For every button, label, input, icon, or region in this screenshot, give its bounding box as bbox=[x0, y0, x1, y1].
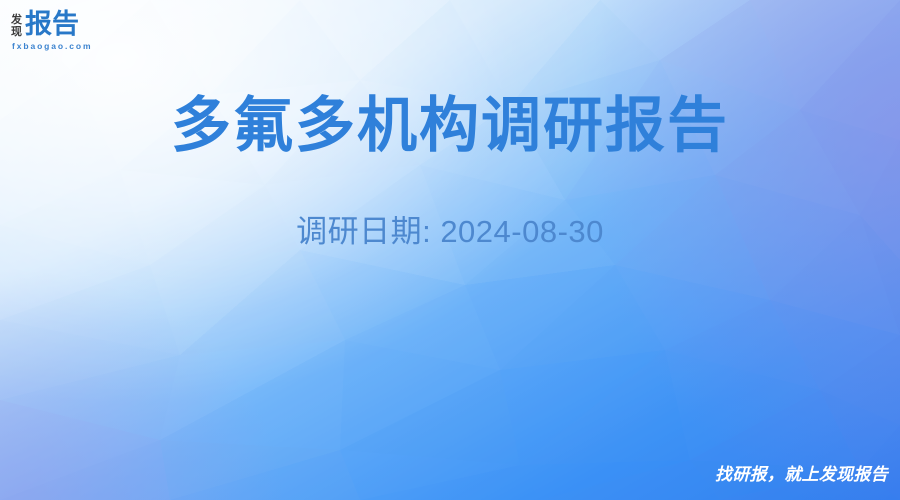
report-cover-slide: 发 现 报告 fxbaogao.com 多氟多机构调研报告 调研日期: 2024… bbox=[0, 0, 900, 500]
low-poly-background bbox=[0, 0, 900, 500]
logo-stack-bottom-char: 现 bbox=[11, 26, 22, 38]
logo-stack-top-char: 发 bbox=[11, 14, 22, 26]
brand-logo[interactable]: 发 现 报告 fxbaogao.com bbox=[11, 11, 79, 38]
logo-stacked-characters: 发 现 bbox=[11, 13, 22, 38]
logo-url-text: fxbaogao.com bbox=[12, 41, 92, 51]
logo-mark: 发 现 报告 bbox=[11, 11, 79, 38]
footer-tagline: 找研报，就上发现报告 bbox=[715, 464, 888, 486]
logo-wordmark: 报告 bbox=[25, 11, 79, 38]
